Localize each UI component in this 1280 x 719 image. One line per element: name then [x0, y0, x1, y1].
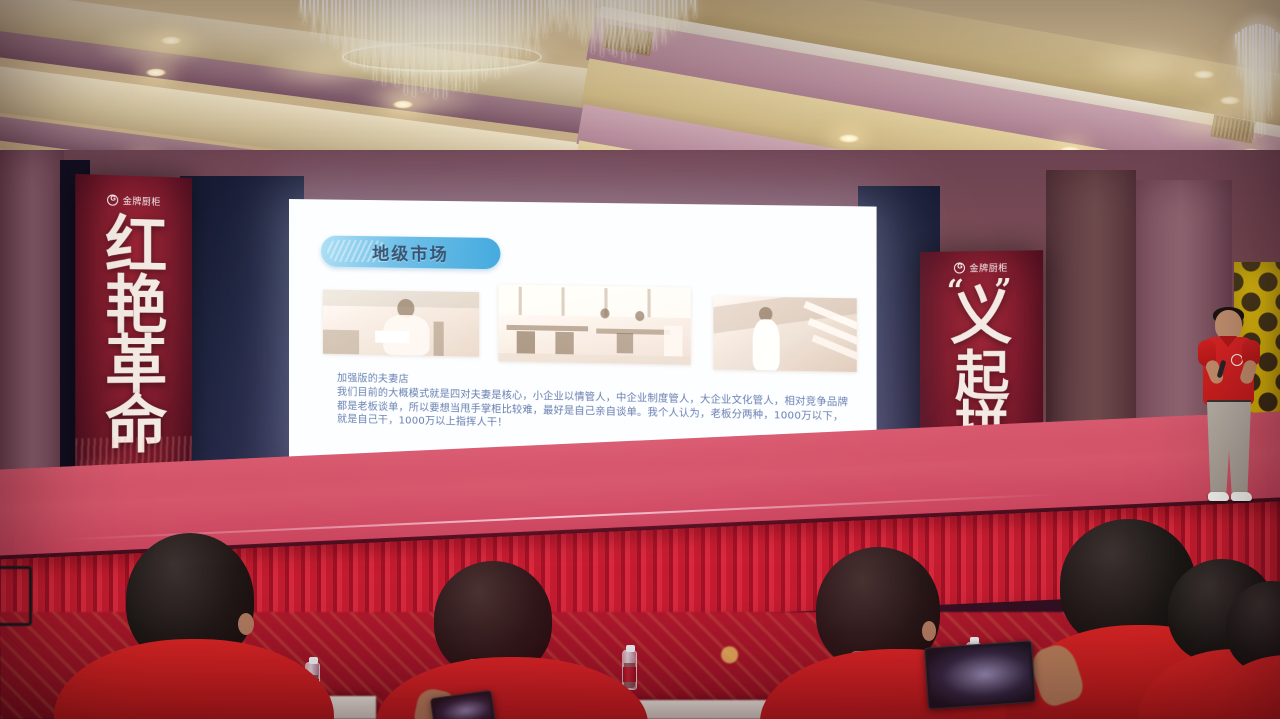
ceiling-downlight: [1193, 70, 1215, 79]
speaker-legs-gray-pants: [1207, 402, 1251, 494]
banner-left: G 金牌厨柜 红艳革命: [75, 174, 192, 510]
slide-photo-woman-walking: [713, 296, 856, 372]
slide-title-pill: 地级市场: [321, 235, 500, 269]
audience-member: [1222, 589, 1280, 719]
banner-right-logo-mark: G: [954, 262, 965, 273]
crystal-chandelier: [300, 0, 570, 100]
banner-left-logo-mark: G: [108, 194, 119, 206]
stage-backdrop-left: [180, 176, 304, 486]
speaker-shoe-left: [1208, 492, 1229, 501]
slide-title: 地级市场: [372, 239, 449, 265]
audience-member: [60, 559, 330, 719]
crystal-chandelier: [548, 0, 698, 56]
slide-body-text: 加强版的夫妻店 我们目前的大概模式就是四对夫妻是核心，小企业以情管人，中企业制度…: [337, 372, 849, 438]
ceiling-downlight: [160, 36, 182, 45]
slide-photo-office-workspace: [498, 284, 690, 364]
ceiling-downlight: [145, 68, 167, 77]
crystal-chandelier: [1235, 24, 1280, 144]
conference-hall-scene: G 金牌厨柜 红艳革命 G 金牌厨柜 “” 义 起拼 地级市场: [0, 0, 1280, 719]
speaker-on-stage: [1198, 310, 1260, 510]
ceiling-downlight: [838, 134, 860, 143]
banner-left-logo-text: 金牌厨柜: [123, 194, 161, 208]
ceiling-downlight: [392, 100, 414, 109]
speaker-shoe-right: [1231, 492, 1252, 501]
speaker-head: [1215, 310, 1242, 340]
wall-column-left: [0, 150, 64, 510]
slide-photo-man-reviewing-documents: [323, 290, 479, 357]
banner-right-headline-char: 义: [920, 287, 1043, 347]
chair-back: [0, 566, 32, 626]
banner-left-headline: 红艳革命: [75, 215, 192, 457]
slide-photo-strip: [317, 281, 854, 367]
smartphone-recording[interactable]: [924, 640, 1036, 709]
